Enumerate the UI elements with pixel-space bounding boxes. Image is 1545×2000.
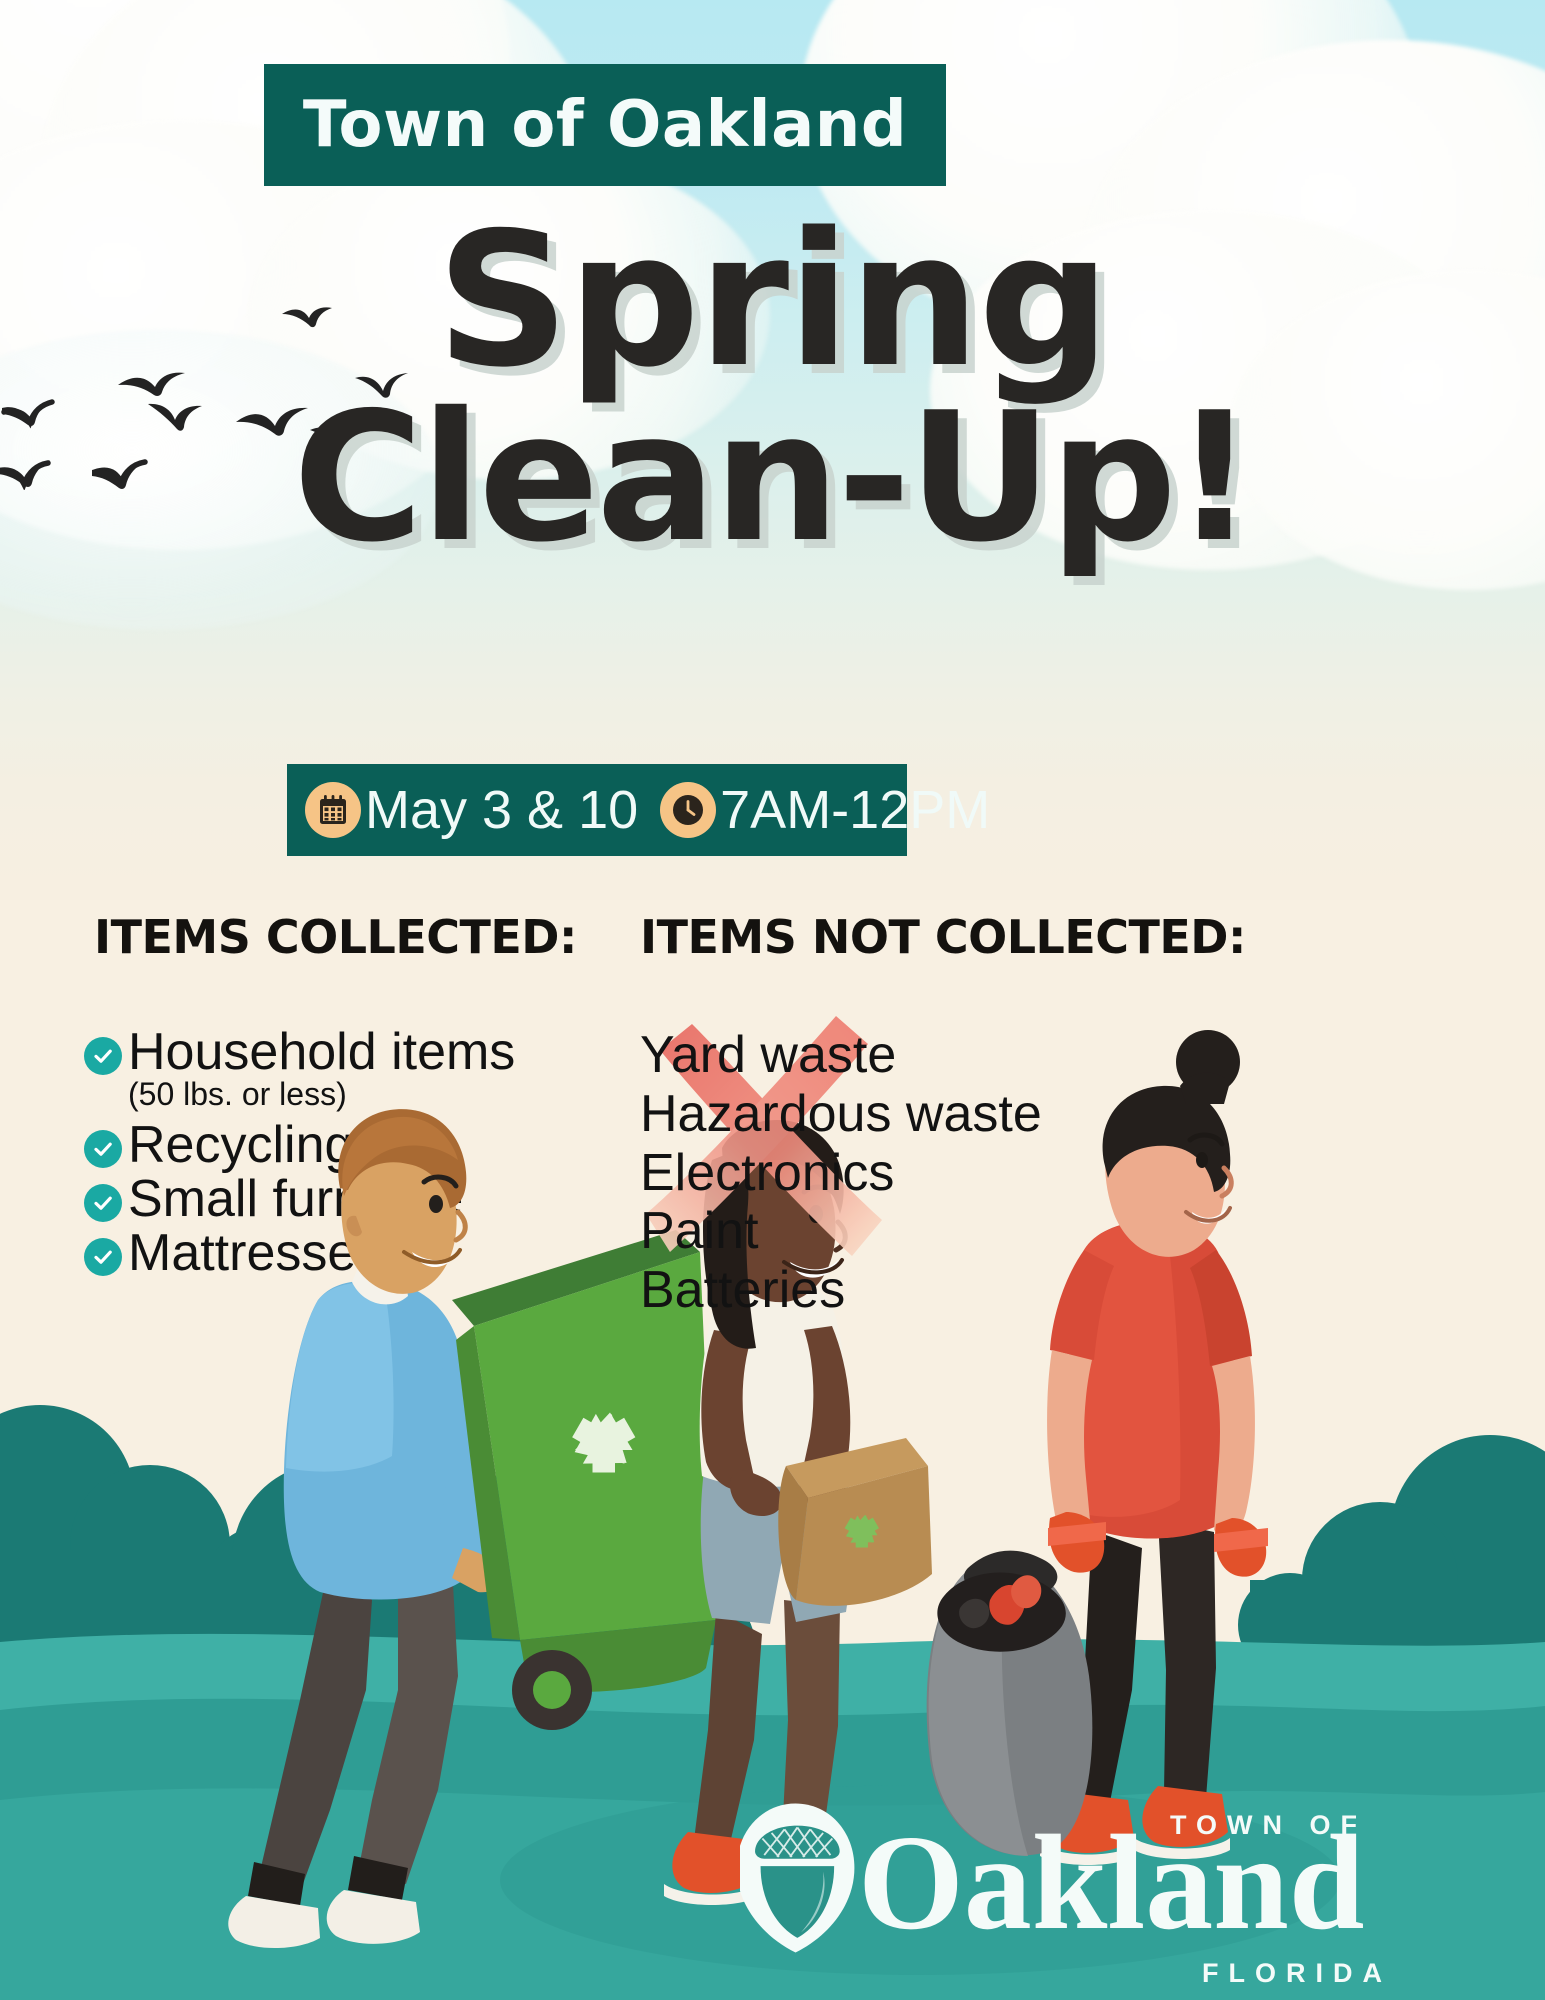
town-name-text: Town of Oakland <box>303 88 907 162</box>
page-title: Spring Clean-Up! <box>0 210 1545 566</box>
logo-tagline-bottom: FLORIDA <box>1202 1958 1392 1988</box>
logo-tagline-top: TOWN OF <box>1170 1810 1367 1840</box>
list-item: Electronics <box>640 1144 1260 1203</box>
oakland-logo: Oakland TOWN OF FLORIDA <box>740 1790 1440 1990</box>
time-text: 7AM-12PM <box>720 779 990 841</box>
items-collected-heading: ITEMS COLLECTED: <box>84 910 644 964</box>
calendar-icon <box>305 782 361 838</box>
list-item: Yard waste <box>640 1026 1260 1085</box>
list-item: Hazardous waste <box>640 1085 1260 1144</box>
date-time-banner: May 3 & 10 7AM-12PM <box>287 764 907 856</box>
acorn-icon <box>740 1804 854 1953</box>
title-line-2: Clean-Up! <box>0 391 1545 565</box>
items-not-collected-list: Yard waste Hazardous waste Electronics P… <box>640 1026 1260 1320</box>
items-not-collected-section: ITEMS NOT COLLECTED: <box>640 910 1260 1320</box>
town-name-banner: Town of Oakland <box>264 64 946 186</box>
person-with-recycling-bin <box>228 1109 501 1948</box>
items-not-collected-heading: ITEMS NOT COLLECTED: <box>640 910 1260 964</box>
title-line-1: Spring <box>0 210 1545 391</box>
list-item: Batteries <box>640 1261 1260 1320</box>
date-text: May 3 & 10 <box>365 779 638 841</box>
clock-icon <box>660 782 716 838</box>
cardboard-box <box>778 1438 932 1606</box>
list-item: Paint <box>640 1202 1260 1261</box>
flyer-poster: Town of Oakland Spring Clean-Up! <box>0 0 1545 2000</box>
